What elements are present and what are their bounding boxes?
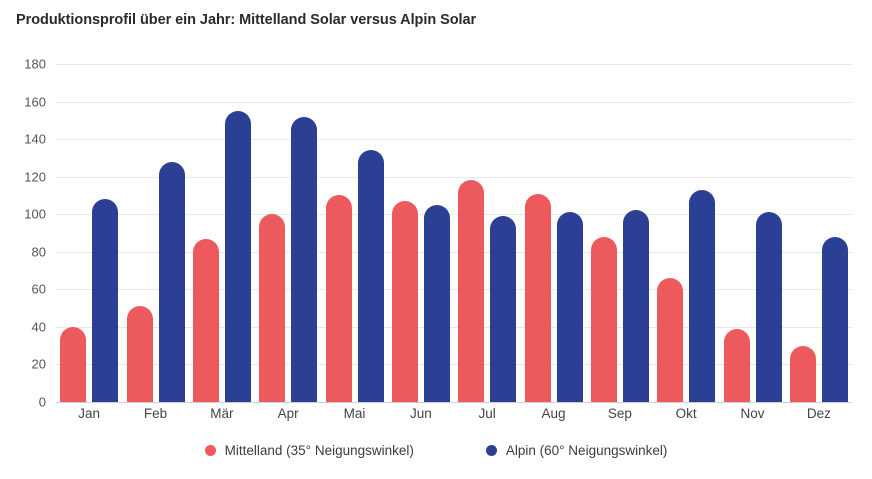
bar-alpin-okt[interactable]: [689, 190, 715, 402]
x-axis: JanFebMärAprMaiJunJulAugSepOktNovDez: [56, 406, 852, 430]
bar-alpin-mär[interactable]: [225, 111, 251, 402]
bar-mittelland-jun[interactable]: [392, 201, 418, 402]
bar-alpin-dez[interactable]: [822, 237, 848, 402]
x-axis-tick-label: Nov: [740, 406, 764, 421]
bar-mittelland-sep[interactable]: [591, 237, 617, 402]
bar-mittelland-aug[interactable]: [525, 194, 551, 402]
x-axis-tick-label: Feb: [144, 406, 167, 421]
chart-legend: Mittelland (35° Neigungswinkel)Alpin (60…: [0, 443, 872, 458]
y-axis-tick-label: 140: [0, 132, 46, 147]
y-axis-tick-label: 0: [0, 395, 46, 410]
bar-mittelland-mai[interactable]: [326, 195, 352, 402]
x-axis-tick-label: Jul: [479, 406, 496, 421]
y-axis-tick-label: 160: [0, 94, 46, 109]
chart-container: Produktionsprofil über ein Jahr: Mittell…: [0, 0, 872, 479]
y-axis: 180160140120100806040200: [0, 64, 46, 402]
bar-alpin-apr[interactable]: [291, 117, 317, 402]
bar-alpin-jul[interactable]: [490, 216, 516, 402]
bar-mittelland-feb[interactable]: [127, 306, 153, 402]
bar-alpin-jun[interactable]: [424, 205, 450, 402]
bar-mittelland-apr[interactable]: [259, 214, 285, 402]
x-axis-tick-label: Mai: [344, 406, 366, 421]
bar-mittelland-jan[interactable]: [60, 327, 86, 402]
legend-item-mittelland[interactable]: Mittelland (35° Neigungswinkel): [205, 443, 414, 458]
chart-title: Produktionsprofil über ein Jahr: Mittell…: [16, 12, 476, 28]
bar-mittelland-mär[interactable]: [193, 239, 219, 402]
y-axis-tick-label: 60: [0, 282, 46, 297]
y-axis-tick-label: 120: [0, 169, 46, 184]
bar-alpin-aug[interactable]: [557, 212, 583, 402]
bar-mittelland-okt[interactable]: [657, 278, 683, 402]
bar-alpin-feb[interactable]: [159, 162, 185, 402]
bar-alpin-jan[interactable]: [92, 199, 118, 402]
bar-alpin-mai[interactable]: [358, 150, 384, 402]
legend-swatch-icon: [205, 445, 216, 456]
x-axis-tick-label: Jun: [410, 406, 432, 421]
legend-item-alpin[interactable]: Alpin (60° Neigungswinkel): [486, 443, 667, 458]
x-axis-tick-label: Okt: [676, 406, 697, 421]
x-axis-tick-label: Jan: [78, 406, 100, 421]
x-axis-tick-label: Apr: [278, 406, 299, 421]
y-axis-tick-label: 180: [0, 57, 46, 72]
x-axis-tick-label: Aug: [541, 406, 565, 421]
bar-mittelland-nov[interactable]: [724, 329, 750, 402]
x-axis-tick-label: Sep: [608, 406, 632, 421]
x-axis-tick-label: Mär: [210, 406, 233, 421]
y-axis-tick-label: 20: [0, 357, 46, 372]
bar-alpin-sep[interactable]: [623, 210, 649, 402]
y-axis-tick-label: 100: [0, 207, 46, 222]
gridline: [56, 402, 852, 403]
legend-label: Mittelland (35° Neigungswinkel): [225, 443, 414, 458]
legend-label: Alpin (60° Neigungswinkel): [506, 443, 667, 458]
legend-swatch-icon: [486, 445, 497, 456]
y-axis-tick-label: 80: [0, 244, 46, 259]
bar-mittelland-dez[interactable]: [790, 346, 816, 402]
x-axis-tick-label: Dez: [807, 406, 831, 421]
bars-layer: [56, 64, 852, 402]
bar-mittelland-jul[interactable]: [458, 180, 484, 402]
y-axis-tick-label: 40: [0, 319, 46, 334]
bar-alpin-nov[interactable]: [756, 212, 782, 402]
plot-area: [56, 64, 852, 402]
